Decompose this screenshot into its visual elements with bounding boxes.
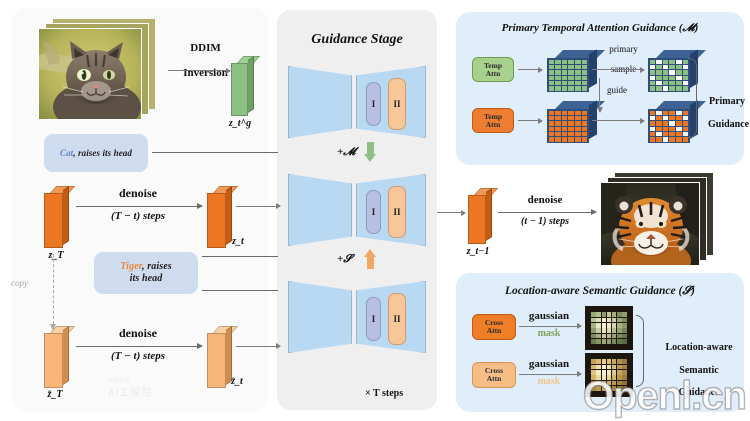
gaussian-label-row2: gaussian [520, 358, 578, 370]
primary-sample-line1: primary [609, 44, 638, 54]
mask-label-row2: mask [520, 376, 578, 387]
latent-bar-zT [44, 186, 63, 248]
mask-grid-source [585, 306, 633, 350]
attention-cube-target [547, 101, 589, 143]
guidance-stage-title: Guidance Stage [277, 32, 437, 48]
primary-guidance-cube-target [648, 101, 690, 143]
unet-slot-II-1: II [388, 78, 406, 130]
guide-label: guide [607, 85, 627, 95]
ddim-inversion-label: DDIM Inversion [168, 30, 232, 92]
denoise-label-row2: denoise [78, 327, 198, 340]
temp-attn-target-line2: Attn [486, 121, 501, 129]
unet-slot-II-3: II [388, 293, 406, 345]
denoise-arrow-row2 [148, 346, 202, 347]
label-zt-bar: z̄_t [222, 376, 252, 387]
steps-label-row2: (T − t) steps [78, 350, 198, 362]
label-zt-guidance: z_t^g [222, 118, 258, 129]
temp-attn-source-arrow [518, 69, 542, 70]
gaussian-label-row1: gaussian [520, 310, 578, 322]
prompt-target-line-lower [202, 290, 278, 291]
label-zT-bar: z̄_T [38, 389, 72, 400]
denoise-arrow-row1 [148, 206, 202, 207]
tiger-image-stack [600, 172, 718, 272]
unet-slot-I-1: I [366, 82, 381, 126]
cross-attn-box-source: Cross Attn [472, 314, 516, 340]
denoise-label-row1: denoise [78, 187, 198, 200]
prompt-source: Cat, raises its head [44, 134, 148, 172]
prompt-target-rest2: its head [130, 273, 163, 284]
zt-to-unet-arrow [236, 206, 280, 207]
guidance-arrow-label-m: +𝓜 [337, 146, 356, 158]
guide-arrow [599, 78, 600, 112]
steps-label-output: (t − 1) steps [500, 216, 590, 227]
guidance-arrow-m [364, 142, 377, 162]
primary-guidance-result-label: Primary Guidance [698, 85, 746, 141]
zt-bar-to-unet-arrow [236, 346, 280, 347]
unet-encoder-2 [288, 174, 352, 246]
primary-guidance-cube-source-grid [648, 58, 690, 92]
primary-guidance-title: Primary Temporal Attention Guidance (𝓜) [456, 22, 744, 34]
prompt-target-keyword: Tiger [120, 261, 142, 272]
gaussian-arrow-row1 [519, 326, 581, 327]
temp-attn-box-target: Temp Attn [472, 108, 514, 133]
watermark-secondary-main: AI工程院 [108, 388, 152, 399]
tiger-photo [601, 183, 700, 266]
attention-cube-source [547, 50, 589, 92]
cat-image-stack [38, 18, 160, 126]
ddim-line1: DDIM [190, 42, 221, 54]
watermark-openl: Openl.cn [583, 374, 746, 419]
latent-bar-zt-minus-1 [468, 188, 486, 244]
primary-guidance-cube-source [648, 50, 690, 92]
prompt-target-rest: , raises [142, 261, 172, 272]
primary-guidance-result-line2: Guidance [708, 119, 749, 130]
primary-guidance-cube-target-grid [648, 109, 690, 143]
temp-attn-source-line2: Attn [486, 70, 501, 78]
prompt-source-rest: , raises its head [73, 148, 132, 158]
primary-guidance-brace [688, 58, 697, 138]
gaussian-arrow-row2 [519, 374, 581, 375]
unet-encoder-1 [288, 66, 352, 138]
copy-label: copy [11, 278, 28, 288]
label-zt-minus-1: z_t−1 [458, 246, 498, 257]
unet-block-2: I II [288, 174, 426, 246]
semantic-guidance-result-line1: Location-aware [665, 342, 732, 353]
prompt-target: Tiger, raises its head [94, 252, 198, 294]
temp-attn-box-source: Temp Attn [472, 57, 514, 82]
cross-attn-source-line2: Attn [487, 327, 502, 335]
unet-slot-I-3: I [366, 297, 381, 341]
primary-sample-arrow [592, 69, 644, 70]
cat-photo [39, 29, 142, 120]
denoise-label-output: denoise [500, 194, 590, 206]
target-sample-arrow [592, 120, 644, 121]
watermark-secondary-sub: 启智社区 [108, 377, 152, 384]
unet-slot-I-2: I [366, 190, 381, 234]
unet-block-1: I II [288, 66, 426, 138]
prompt-target-line-upper [202, 256, 278, 257]
prompt-source-keyword: Cat [60, 148, 73, 158]
ddim-inversion-arrow [168, 70, 230, 71]
primary-sample-label: primary sample [588, 34, 650, 84]
unet-to-output-arrow [437, 212, 465, 213]
prompt-source-line [152, 152, 278, 153]
attention-cube-target-grid [547, 109, 589, 143]
denoise-arrow-output [552, 212, 596, 213]
latent-bar-zt-guidance [231, 56, 248, 116]
mask-label-row1: mask [520, 328, 578, 339]
semantic-guidance-title: Location-aware Semantic Guidance (𝓢) [456, 285, 744, 298]
guidance-stage-footer: × T steps [365, 388, 403, 399]
guidance-arrow-s [364, 249, 377, 269]
latent-bar-zT-bar [44, 326, 63, 388]
figure-canvas: DDIM Inversion z_t^g Cat, raises its hea… [0, 0, 750, 421]
unet-slot-II-2: II [388, 186, 406, 238]
cross-attn-target-line2: Attn [487, 375, 502, 383]
ddim-line2: Inversion [183, 67, 228, 79]
unet-block-3: I II [288, 281, 426, 353]
label-zt: z_t [224, 236, 252, 247]
primary-guidance-result-line1: Primary [709, 96, 745, 107]
cross-attn-box-target: Cross Attn [472, 362, 516, 388]
attention-cube-source-grid [547, 58, 589, 92]
steps-label-row1: (T − t) steps [78, 210, 198, 222]
unet-encoder-3 [288, 281, 352, 353]
temp-attn-target-arrow [518, 120, 542, 121]
guidance-arrow-label-s: +𝓢 [337, 253, 352, 265]
watermark-secondary: 启智社区 AI工程院 [108, 377, 152, 399]
label-zT: z_T [40, 250, 72, 261]
copy-dashed-arrow [53, 254, 54, 324]
